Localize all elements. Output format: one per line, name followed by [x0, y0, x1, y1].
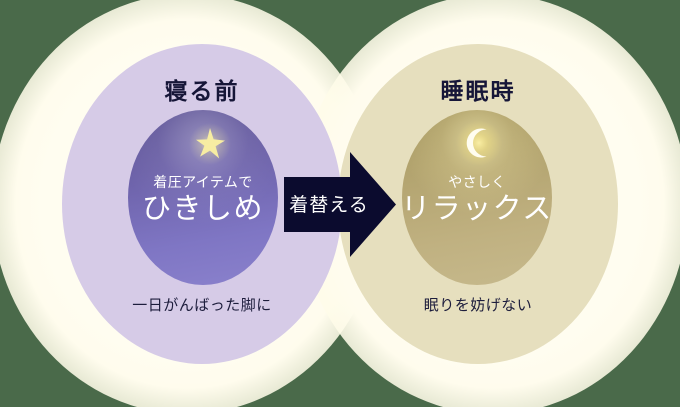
core-subtext-before-sleep: 着圧アイテムで: [123, 172, 283, 192]
star-icon: [188, 122, 232, 166]
core-subtext-during-sleep: やさしく: [397, 172, 557, 192]
core-maintext-during-sleep: リラックス: [397, 193, 557, 226]
stage-caption-before-sleep: 一日がんばった脚に: [62, 294, 342, 315]
stage-caption-during-sleep: 眠りを妨げない: [338, 294, 618, 315]
core-text-during-sleep: やさしく リラックス: [397, 172, 557, 226]
transition-label: 着替える: [284, 190, 374, 217]
crescent-moon-icon: [456, 120, 502, 166]
core-maintext-before-sleep: ひきしめ: [123, 193, 283, 226]
sleepwear-transition-diagram: 寝る前 着圧アイテムで ひきしめ 一日がんばった脚に 睡眠時: [0, 0, 680, 407]
stage-heading-during-sleep: 睡眠時: [338, 72, 618, 106]
stage-heading-before-sleep: 寝る前: [62, 72, 342, 106]
core-text-before-sleep: 着圧アイテムで ひきしめ: [123, 172, 283, 226]
